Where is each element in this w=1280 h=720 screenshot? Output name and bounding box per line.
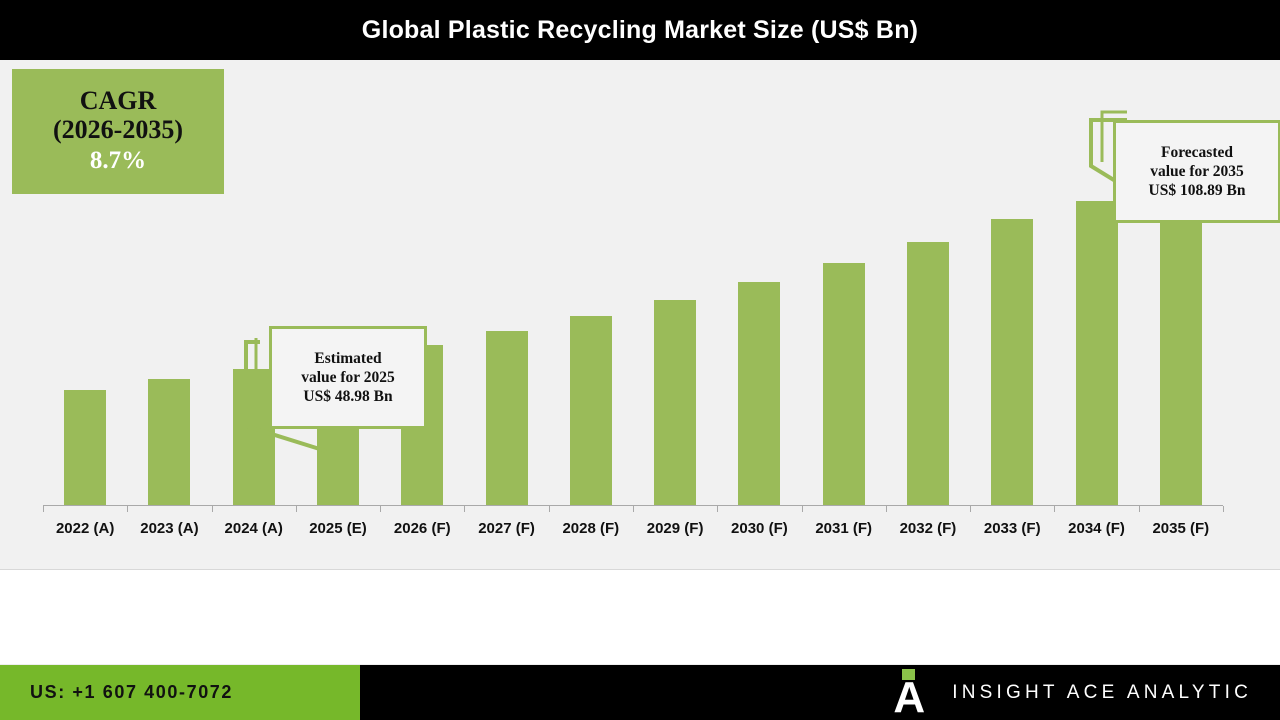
bar-2029f [654,300,696,505]
x-label-2030f: 2030 (F) [717,512,801,552]
page-title: Global Plastic Recycling Market Size (US… [362,16,918,45]
x-label-2024a: 2024 (A) [212,512,296,552]
bar-2030f [738,282,780,505]
x-label-2033f: 2033 (F) [970,512,1054,552]
x-label-2029f: 2029 (F) [633,512,717,552]
chart-panel: CAGR (2026-2035) 8.7% 2022 (A)2023 (A)20… [0,60,1280,570]
callout-estimated-2025: Estimated value for 2025 US$ 48.98 Bn [269,326,427,429]
bar-2035f [1160,178,1202,505]
callout-estimated-line3: US$ 48.98 Bn [303,387,392,406]
callout-forecast-2035: Forecasted value for 2035 US$ 108.89 Bn [1113,120,1280,223]
x-label-2025e: 2025 (E) [296,512,380,552]
bar-2034f [1076,201,1118,505]
brand-block: A INSIGHT ACE ANALYTIC [888,665,1252,720]
footer-contact-block: US: +1 607 400-7072 [0,665,360,720]
insight-ace-logo-icon: A [888,669,930,717]
callout-forecast-line1: Forecasted [1161,143,1233,162]
callout-forecast-line3: US$ 108.89 Bn [1149,181,1246,200]
x-label-2026f: 2026 (F) [380,512,464,552]
x-tick [1223,506,1224,512]
x-label-2034f: 2034 (F) [1054,512,1138,552]
bar-2031f [823,263,865,505]
callout-forecast-line2: value for 2035 [1150,162,1244,181]
bar-2023a [148,379,190,505]
x-label-2032f: 2032 (F) [886,512,970,552]
bar-2033f [991,219,1033,506]
bar-2032f [907,242,949,505]
infographic-page: Global Plastic Recycling Market Size (US… [0,0,1280,720]
callout-estimated-line1: Estimated [314,349,381,368]
x-label-2027f: 2027 (F) [464,512,548,552]
x-axis-labels: 2022 (A)2023 (A)2024 (A)2025 (E)2026 (F)… [43,512,1223,552]
x-label-2023a: 2023 (A) [127,512,211,552]
bar-2028f [570,316,612,505]
x-label-2028f: 2028 (F) [549,512,633,552]
x-label-2022a: 2022 (A) [43,512,127,552]
callout-estimated-line2: value for 2025 [301,368,395,387]
footer-phone[interactable]: US: +1 607 400-7072 [30,682,233,703]
footer-bar: US: +1 607 400-7072 A INSIGHT ACE ANALYT… [0,665,1280,720]
bar-2027f [486,331,528,505]
brand-name: INSIGHT ACE ANALYTIC [952,682,1252,704]
bar-2022a [64,390,106,506]
x-label-2031f: 2031 (F) [802,512,886,552]
logo-a-glyph: A [888,681,930,717]
contributors-strip: Market Contributors ⚙ B&B PLASTICS INC A… [0,571,1280,665]
x-label-2035f: 2035 (F) [1139,512,1223,552]
title-bar: Global Plastic Recycling Market Size (US… [0,0,1280,60]
